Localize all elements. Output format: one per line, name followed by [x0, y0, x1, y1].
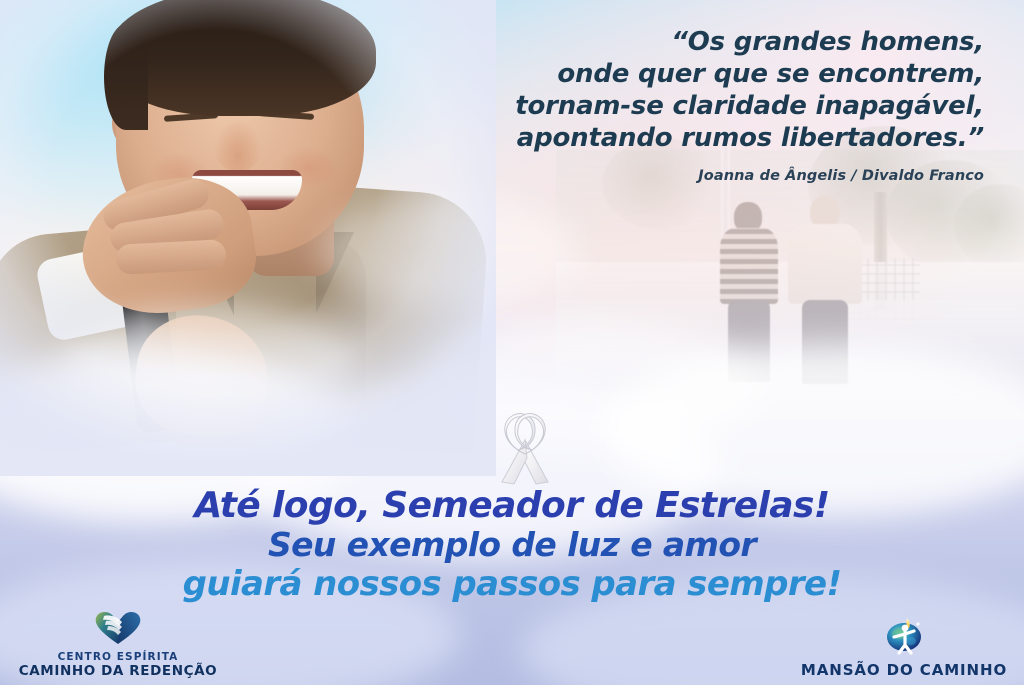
- logo-centro-espirita-caminho-da-redencao: CENTRO ESPÍRITA CAMINHO DA REDENÇÃO: [18, 609, 218, 679]
- quote-attribution: Joanna de Ângelis / Divaldo Franco: [364, 168, 984, 184]
- globe-figure-flame-icon: [881, 615, 927, 659]
- photo-figure-striped-shirt: [716, 202, 780, 378]
- headline-line-1: Até logo, Semeador de Estrelas!: [0, 486, 1024, 526]
- figure-legs: [802, 300, 848, 384]
- finger: [115, 239, 226, 275]
- hair-side: [104, 24, 148, 130]
- logo-right-label: MANSÃO DO CAMINHO: [801, 661, 1007, 679]
- hands-heart-icon: [92, 609, 144, 649]
- headline-line-3: guiará nossos passos para sempre!: [0, 564, 1024, 604]
- memorial-poster: “Os grandes homens, onde quer que se enc…: [0, 0, 1024, 685]
- hair: [108, 0, 376, 116]
- quote-block: “Os grandes homens, onde quer que se enc…: [364, 26, 984, 184]
- figure-torso: [788, 224, 862, 304]
- logo-left-line-1: CENTRO ESPÍRITA: [58, 651, 179, 663]
- logo-left-line-2: CAMINHO DA REDENÇÃO: [19, 663, 218, 679]
- figure-legs: [728, 300, 770, 382]
- background-photo-walkers: [556, 150, 1024, 420]
- tribute-headline: Até logo, Semeador de Estrelas! Seu exem…: [0, 486, 1024, 604]
- quote-line-3: tornam-se claridade inapagável,: [364, 90, 984, 122]
- nose: [214, 120, 262, 172]
- quote-line-4: apontando rumos libertadores.”: [364, 122, 984, 154]
- quote-line-1: “Os grandes homens,: [364, 26, 984, 58]
- logo-mansao-do-caminho: MANSÃO DO CAMINHO: [794, 615, 1014, 679]
- mourning-ribbon-icon: [488, 410, 562, 488]
- photo-figure-white-shirt: [788, 196, 862, 380]
- quote-line-2: onde quer que se encontrem,: [364, 58, 984, 90]
- figure-torso: [720, 228, 778, 304]
- headline-line-2: Seu exemplo de luz e amor: [0, 526, 1024, 564]
